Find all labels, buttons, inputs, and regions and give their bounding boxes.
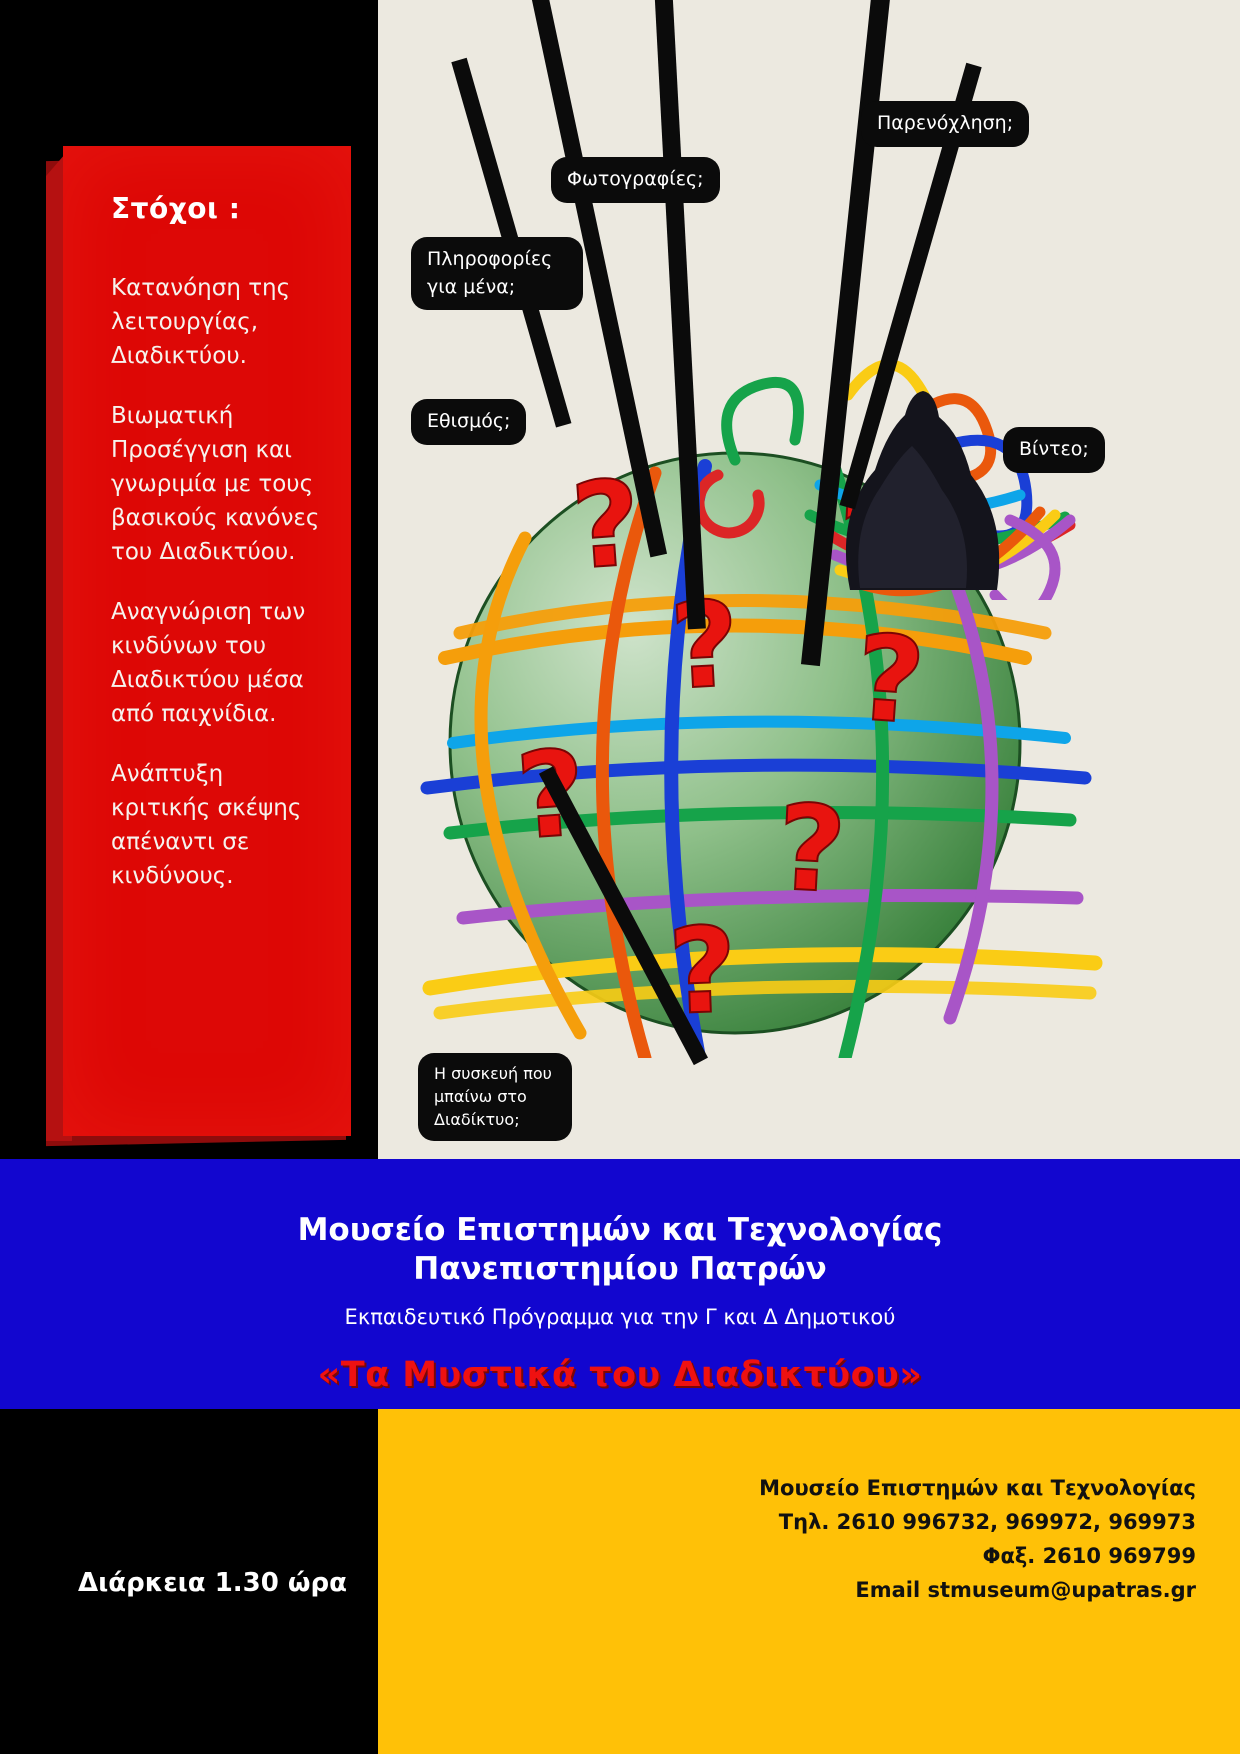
objectives-title: Στόχοι :	[111, 194, 325, 225]
callout-video[interactable]: Βίντεο;	[1003, 427, 1105, 473]
contact-line-2: Τηλ. 2610 996732, 969972, 969973	[779, 1510, 1196, 1534]
callout-info[interactable]: Πληροφορίες για μένα;	[411, 237, 583, 310]
svg-text:?: ?	[851, 608, 929, 750]
poster-upper-stage: ? ? ? ? ? ? ?	[0, 0, 1240, 1159]
objective-item-4: Ανάπτυξη κριτικής σκέψης απέναντι σε κιν…	[111, 757, 325, 893]
objectives-panel: Στόχοι : Κατανόηση της λειτουργίας, Διαδ…	[63, 146, 351, 1136]
callout-addiction[interactable]: Εθισμός;	[411, 399, 526, 445]
duration-label: Διάρκεια 1.30 ώρα	[78, 1568, 368, 1598]
callout-harassment[interactable]: Παρενόχληση;	[861, 101, 1029, 147]
objective-item-1: Κατανόηση της λειτουργίας, Διαδικτύου.	[111, 271, 325, 373]
objective-item-3: Αναγνώριση των κινδύνων του Διαδικτύου μ…	[111, 595, 325, 731]
objective-item-2: Βιωματική Προσέγγιση και γνωριμία με του…	[111, 399, 325, 569]
callout-photos[interactable]: Φωτογραφίες;	[551, 157, 720, 203]
program-title: «Τα Μυστικά του Διαδικτύου»	[0, 1355, 1240, 1395]
svg-text:?: ?	[774, 778, 850, 919]
organisation-title-line2: Πανεπιστημίου Πατρών	[413, 1251, 826, 1287]
poster-root: ? ? ? ? ? ? ?	[0, 0, 1240, 1754]
organisation-subtitle: Εκπαιδευτικό Πρόγραμμα για την Γ και Δ Δ…	[0, 1305, 1240, 1329]
organisation-title-line1: Μουσείο Επιστημών και Τεχνολογίας	[298, 1212, 943, 1248]
illustration-canvas: ? ? ? ? ? ? ?	[378, 0, 1240, 1159]
contact-details: Μουσείο Επιστημών και Τεχνολογίας Τηλ. 2…	[378, 1409, 1240, 1607]
organisation-banner: Μουσείο Επιστημών και Τεχνολογίας Πανεπι…	[0, 1159, 1240, 1409]
organisation-title: Μουσείο Επιστημών και Τεχνολογίας Πανεπι…	[0, 1159, 1240, 1289]
callout-device[interactable]: Η συσκευή που μπαίνω στο Διαδίκτυο;	[418, 1053, 572, 1141]
contact-line-1: Μουσείο Επιστημών και Τεχνολογίας	[759, 1476, 1196, 1500]
contact-box: Μουσείο Επιστημών και Τεχνολογίας Τηλ. 2…	[378, 1409, 1240, 1754]
contact-line-4: Email stmuseum@upatras.gr	[855, 1578, 1196, 1602]
contact-line-3: Φαξ. 2610 969799	[983, 1544, 1196, 1568]
